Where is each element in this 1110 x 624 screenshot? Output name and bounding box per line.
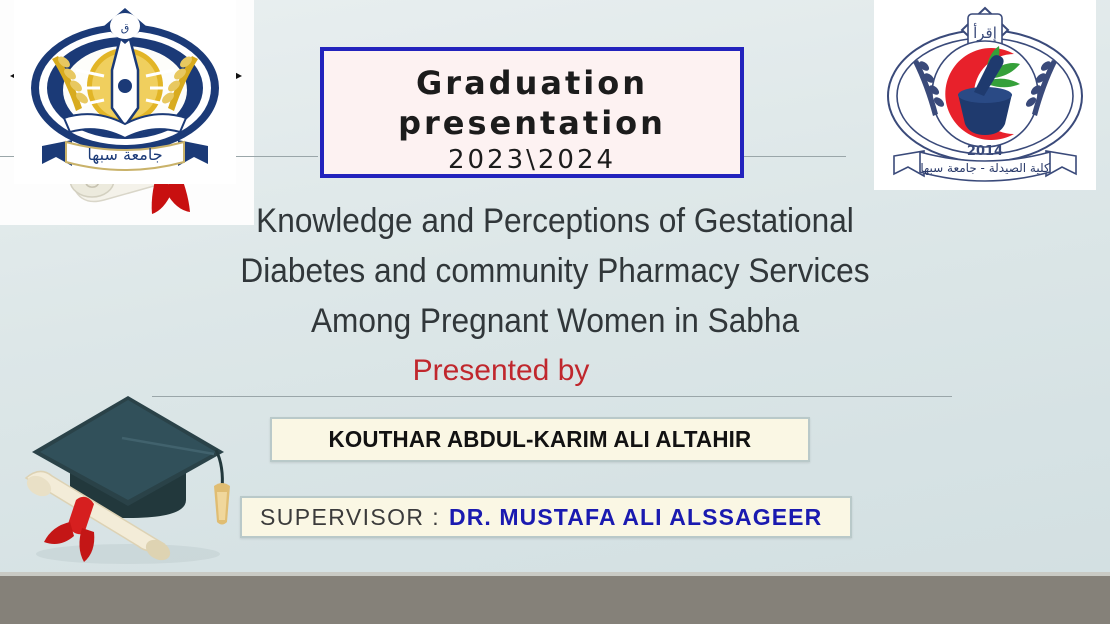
- presentation-title: Knowledge and Perceptions of Gestational…: [120, 196, 990, 346]
- presenter-name-box: KOUTHAR ABDUL-KARIM ALI ALTAHIR: [270, 417, 810, 462]
- supervisor-label: SUPERVISOR :: [260, 504, 440, 531]
- divider-line-right: [742, 156, 846, 157]
- supervisor-box: SUPERVISOR : DR. MUSTAFA ALI ALSSAGEER: [240, 496, 852, 538]
- title-line-2: Diabetes and community Pharmacy Services: [150, 246, 959, 296]
- pharmacy-top-text: إقرأ: [973, 23, 997, 42]
- header-title-line1: Graduation: [324, 63, 740, 103]
- faculty-of-pharmacy-logo-card: إقرأ: [874, 0, 1096, 190]
- svg-text:ق: ق: [121, 21, 130, 34]
- university-banner-text: جامعة سبها: [87, 145, 162, 165]
- pharmacy-banner-text: كلية الصيدلة - جامعة سبها: [920, 161, 1050, 175]
- graduation-cap-left-decoration: [18, 382, 236, 572]
- graduation-presentation-header-box: Graduation presentation 2023\2024: [320, 47, 744, 178]
- faculty-of-pharmacy-logo: إقرأ: [874, 0, 1096, 190]
- supervisor-name: DR. MUSTAFA ALI ALSSAGEER: [449, 504, 822, 531]
- presentation-slide: ق جامعة سبها: [0, 0, 1110, 624]
- header-title-line2: presentation: [324, 103, 740, 143]
- slide-footer-bar: [0, 572, 1110, 624]
- title-line-3: Among Pregnant Women in Sabha: [150, 296, 959, 346]
- header-academic-year: 2023\2024: [324, 143, 740, 177]
- title-line-1: Knowledge and Perceptions of Gestational: [150, 196, 959, 246]
- graduation-cap-with-diploma-icon: [18, 382, 236, 572]
- sabha-university-logo: ق جامعة سبها: [14, 0, 236, 184]
- presenter-name: KOUTHAR ABDUL-KARIM ALI ALTAHIR: [329, 426, 752, 453]
- sabha-university-logo-card: ق جامعة سبها: [14, 0, 236, 184]
- pharmacy-year-text: 2014: [967, 144, 1003, 159]
- divider-line-presented: [152, 396, 952, 397]
